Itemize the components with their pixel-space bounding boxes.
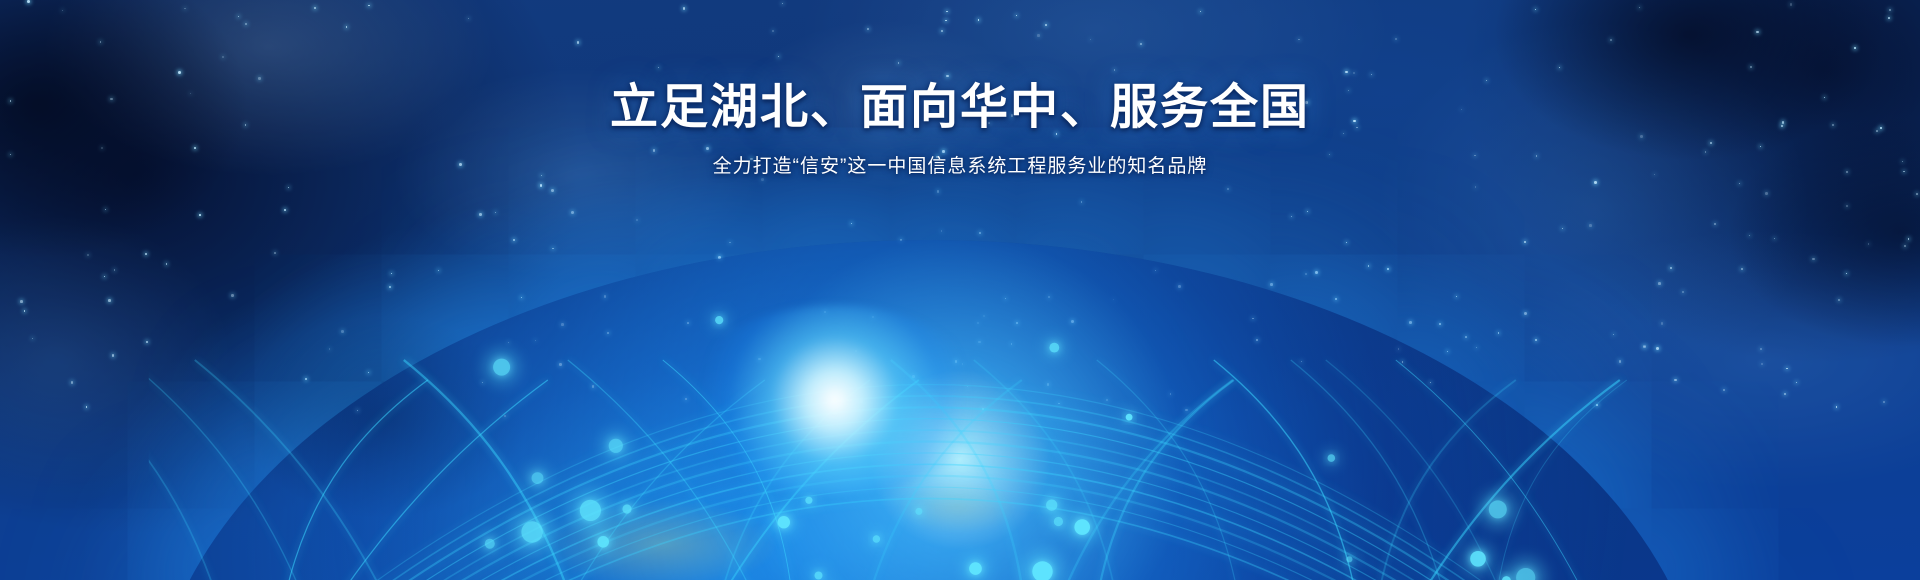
globe-graphic xyxy=(149,240,1709,580)
banner-headline: 立足湖北、面向华中、服务全国 xyxy=(0,80,1920,137)
banner-subline: 全力打造“信安”这一中国信息系统工程服务业的知名品牌 xyxy=(0,151,1920,178)
light-burst-graphic xyxy=(685,305,985,495)
banner-text-block: 立足湖北、面向华中、服务全国 全力打造“信安”这一中国信息系统工程服务业的知名品… xyxy=(0,80,1920,178)
hero-banner: 立足湖北、面向华中、服务全国 全力打造“信安”这一中国信息系统工程服务业的知名品… xyxy=(0,0,1920,580)
